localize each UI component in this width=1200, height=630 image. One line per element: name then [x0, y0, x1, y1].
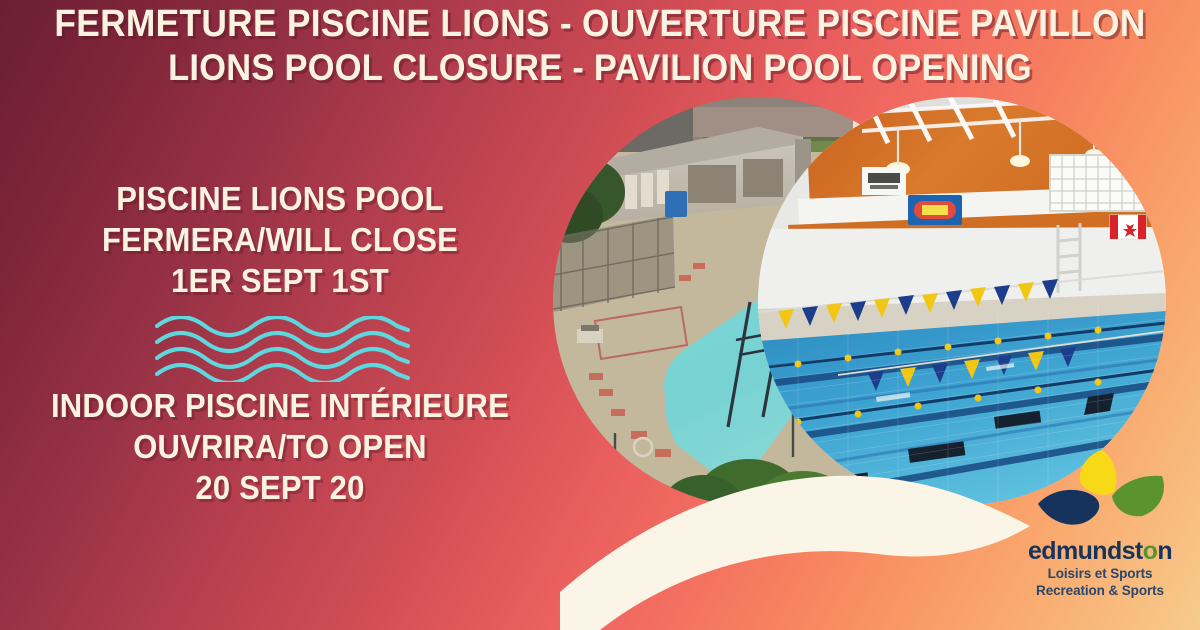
poster-canvas: FERMETURE PISCINE LIONS - OUVERTURE PISC… — [0, 0, 1200, 630]
logo-wordmark-part1: edmundst — [1028, 537, 1143, 565]
logo-tagline-fr: Loisirs et Sports — [1005, 565, 1195, 582]
edmundston-logo: edmundston Loisirs et Sports Recreation … — [1005, 448, 1195, 620]
indoor-pool-photo — [758, 97, 1166, 505]
opening-line-2: OUVRIRA/TO OPEN — [17, 426, 543, 467]
closure-line-2: FERMERA/WILL CLOSE — [17, 219, 543, 260]
logo-wordmark-part2: n — [1157, 537, 1172, 565]
closure-message-block: PISCINE LIONS POOL FERMERA/WILL CLOSE 1E… — [0, 178, 560, 301]
headline: FERMETURE PISCINE LIONS - OUVERTURE PISC… — [0, 2, 1200, 90]
logo-wordmark-accent-o: o — [1143, 537, 1158, 565]
edmundston-leaf-marks-icon — [1030, 448, 1170, 540]
closure-line-3: 1ER SEPT 1ST — [17, 260, 543, 301]
opening-line-1: INDOOR PISCINE INTÉRIEURE — [17, 385, 543, 426]
opening-message-block: INDOOR PISCINE INTÉRIEURE OUVRIRA/TO OPE… — [0, 385, 560, 508]
headline-line-en: LIONS POOL CLOSURE - PAVILION POOL OPENI… — [42, 46, 1158, 90]
logo-wordmark: edmundston — [1005, 538, 1195, 565]
logo-tagline-en: Recreation & Sports — [1005, 582, 1195, 599]
opening-line-3: 20 SEPT 20 — [17, 467, 543, 508]
headline-line-fr: FERMETURE PISCINE LIONS - OUVERTURE PISC… — [42, 2, 1158, 46]
wave-divider-icon — [155, 316, 410, 382]
closure-line-1: PISCINE LIONS POOL — [17, 178, 543, 219]
